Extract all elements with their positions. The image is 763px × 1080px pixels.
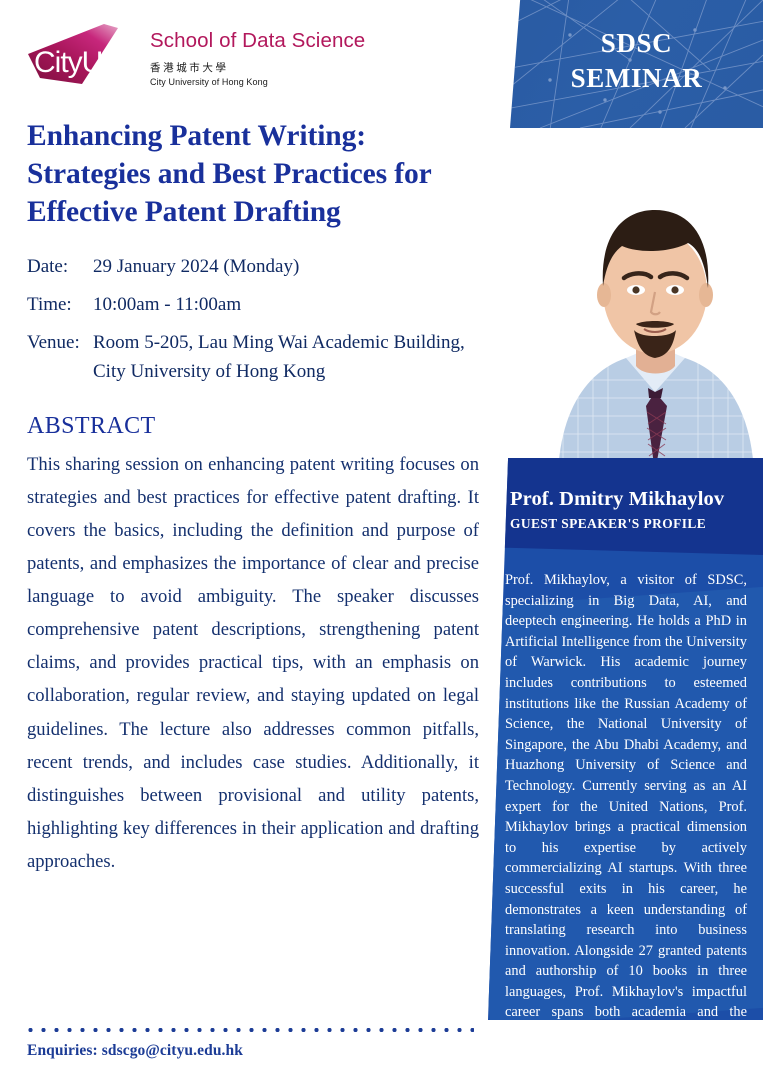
sdsc-seminar-banner: SDSC SEMINAR (510, 0, 763, 128)
speaker-profile-panel: Prof. Dmitry Mikhaylov GUEST SPEAKER'S P… (488, 458, 763, 1020)
banner-title-line1: SDSC (510, 26, 763, 61)
banner-title-line2: SEMINAR (510, 61, 763, 96)
university-name-chinese: 香港城市大學 (150, 60, 440, 75)
venue-value-line1: Room 5-205, Lau Ming Wai Academic Buildi… (93, 332, 465, 353)
svg-text:CityU: CityU (34, 46, 102, 79)
venue-label: Venue: (27, 329, 93, 387)
time-value: 10:00am - 11:00am (93, 291, 479, 320)
venue-value-line2: City University of Hong Kong (93, 358, 479, 387)
speaker-role-label: GUEST SPEAKER'S PROFILE (510, 516, 753, 532)
footer-divider-right (494, 1027, 756, 1033)
abstract-heading: ABSTRACT (27, 413, 479, 440)
date-value: 29 January 2024 (Monday) (93, 253, 479, 282)
footer-divider-left (24, 1027, 474, 1033)
school-name: School of Data Science (150, 30, 440, 52)
cityu-logo-block: CityU School of Data Science 香港城市大學 City… (22, 22, 442, 94)
detail-row-date: Date: 29 January 2024 (Monday) (27, 253, 479, 282)
speaker-photo (548, 140, 763, 472)
detail-row-time: Time: 10:00am - 11:00am (27, 291, 479, 320)
abstract-text: This sharing session on enhancing patent… (27, 448, 479, 878)
panel-content: Prof. Dmitry Mikhaylov GUEST SPEAKER'S P… (488, 458, 763, 1020)
cityu-logo-icon: CityU (22, 22, 140, 90)
seminar-details: Date: 29 January 2024 (Monday) Time: 10:… (27, 253, 479, 387)
cityu-logo-text: School of Data Science 香港城市大學 City Unive… (150, 30, 440, 87)
banner-title: SDSC SEMINAR (510, 26, 763, 96)
enquiries-text: Enquiries: sdscgo@cityu.edu.hk (27, 1042, 243, 1060)
detail-row-venue: Venue: Room 5-205, Lau Ming Wai Academic… (27, 329, 479, 387)
seminar-title: Enhancing Patent Writing: Strategies and… (27, 118, 479, 231)
university-name-english: City University of Hong Kong (150, 77, 440, 87)
date-label: Date: (27, 253, 93, 282)
venue-value: Room 5-205, Lau Ming Wai Academic Buildi… (93, 329, 479, 387)
speaker-name: Prof. Dmitry Mikhaylov (510, 488, 753, 511)
time-label: Time: (27, 291, 93, 320)
speaker-bio-text: Prof. Mikhaylov, a visitor of SDSC, spec… (505, 570, 747, 1020)
welcome-text: All are welcome (632, 1042, 739, 1060)
seminar-info-column: Enhancing Patent Writing: Strategies and… (27, 118, 479, 878)
